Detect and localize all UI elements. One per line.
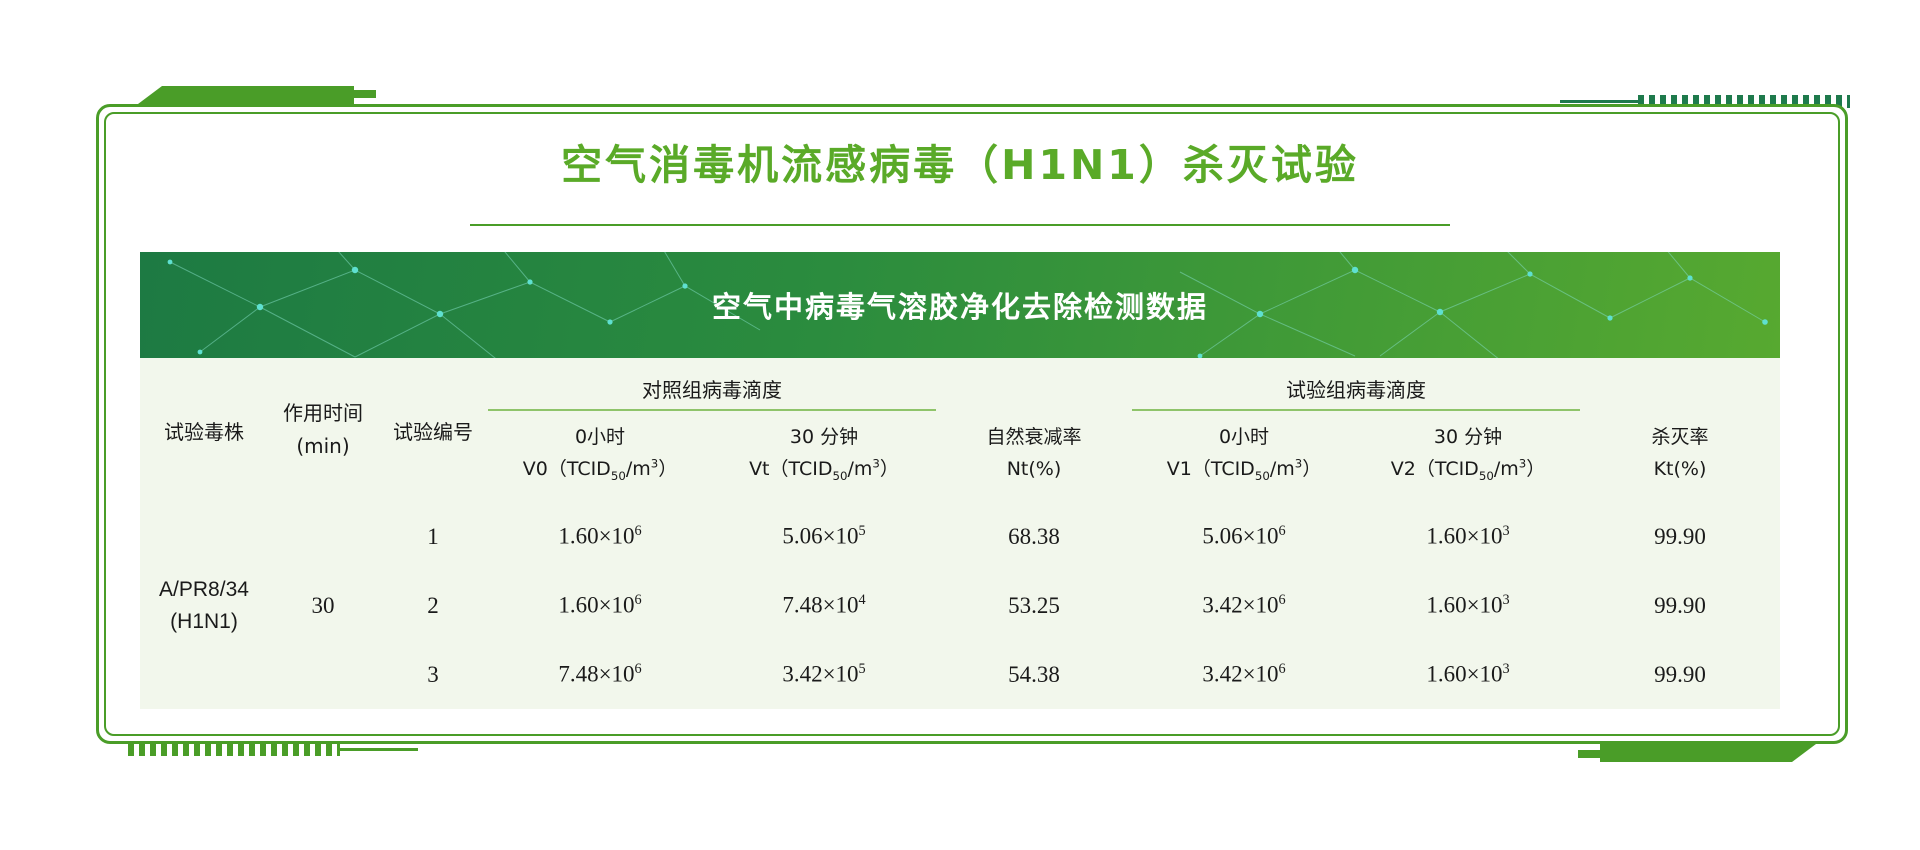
header-test-v1: 0小时 V1（TCID50/m3） bbox=[1132, 410, 1356, 502]
header-control-vt-line1: 30 分钟 bbox=[716, 421, 932, 453]
header-spacer-nt bbox=[936, 358, 1132, 410]
header-duration-line1: 作用时间 bbox=[269, 397, 377, 430]
cell-control-v0: 1.60×106 bbox=[488, 502, 712, 571]
header-control-v0-line2: V0（TCID50/m3） bbox=[492, 453, 708, 486]
cell-strain-line1: A/PR8/34 bbox=[141, 574, 267, 606]
corner-accent-bottom-right-bar bbox=[1578, 750, 1602, 758]
cell-control-vt: 5.06×105 bbox=[712, 502, 936, 571]
cell-test-v1: 3.42×106 bbox=[1132, 571, 1356, 640]
table-header-group-row: 试验毒株 作用时间 (min) 试验编号 对照组病毒滴度 试验组病毒滴度 bbox=[140, 358, 1780, 410]
cell-test-v1: 3.42×106 bbox=[1132, 640, 1356, 709]
results-table: 试验毒株 作用时间 (min) 试验编号 对照组病毒滴度 试验组病毒滴度 0小时… bbox=[140, 358, 1780, 709]
header-natural-decay-line2: Nt(%) bbox=[940, 453, 1128, 485]
cell-natural-decay: 54.38 bbox=[936, 640, 1132, 709]
header-group-test: 试验组病毒滴度 bbox=[1132, 358, 1580, 410]
cell-kill-rate: 99.90 bbox=[1580, 571, 1780, 640]
header-test-no: 试验编号 bbox=[378, 358, 488, 502]
cell-natural-decay: 68.38 bbox=[936, 502, 1132, 571]
cell-control-v0: 1.60×106 bbox=[488, 571, 712, 640]
table-row: 2 1.60×106 7.48×104 53.25 3.42×106 1.60×… bbox=[140, 571, 1780, 640]
cell-test-v1: 5.06×106 bbox=[1132, 502, 1356, 571]
header-control-vt: 30 分钟 Vt（TCID50/m3） bbox=[712, 410, 936, 502]
header-natural-decay-line1: 自然衰减率 bbox=[940, 421, 1128, 453]
header-duration: 作用时间 (min) bbox=[268, 358, 378, 502]
table-row: A/PR8/34 (H1N1) 30 1 1.60×106 5.06×105 6… bbox=[140, 502, 1780, 571]
cell-control-vt: 7.48×104 bbox=[712, 571, 936, 640]
cell-kill-rate: 99.90 bbox=[1580, 640, 1780, 709]
cell-duration: 30 bbox=[268, 502, 378, 709]
header-test-v1-line2: V1（TCID50/m3） bbox=[1136, 453, 1352, 486]
header-control-vt-line2: Vt（TCID50/m3） bbox=[716, 453, 932, 486]
header-natural-decay: 自然衰减率 Nt(%) bbox=[936, 410, 1132, 502]
poster-stage: 空气消毒机流感病毒（H1N1）杀灭试验 空气中病毒气溶胶净化去除检测数据 bbox=[0, 0, 1920, 850]
cell-control-v0: 7.48×106 bbox=[488, 640, 712, 709]
header-group-control: 对照组病毒滴度 bbox=[488, 358, 936, 410]
cell-test-no: 1 bbox=[378, 502, 488, 571]
cell-strain-line2: (H1N1) bbox=[141, 606, 267, 638]
header-test-v2: 30 分钟 V2（TCID50/m3） bbox=[1356, 410, 1580, 502]
table-row: 3 7.48×106 3.42×105 54.38 3.42×106 1.60×… bbox=[140, 640, 1780, 709]
banner-title: 空气中病毒气溶胶净化去除检测数据 bbox=[140, 252, 1780, 358]
header-kill-rate-line1: 杀灭率 bbox=[1584, 421, 1776, 453]
cell-test-v2: 1.60×103 bbox=[1356, 640, 1580, 709]
title-underline-rule bbox=[470, 224, 1450, 226]
cell-test-v2: 1.60×103 bbox=[1356, 502, 1580, 571]
header-test-v1-line1: 0小时 bbox=[1136, 421, 1352, 453]
header-test-v2-line1: 30 分钟 bbox=[1360, 421, 1576, 453]
header-test-v2-line2: V2（TCID50/m3） bbox=[1360, 453, 1576, 486]
cell-kill-rate: 99.90 bbox=[1580, 502, 1780, 571]
cell-test-no: 3 bbox=[378, 640, 488, 709]
header-strain: 试验毒株 bbox=[140, 358, 268, 502]
header-control-v0-line1: 0小时 bbox=[492, 421, 708, 453]
decor-comb-bottom-left bbox=[128, 743, 340, 756]
cell-strain: A/PR8/34 (H1N1) bbox=[140, 502, 268, 709]
header-spacer-kt bbox=[1580, 358, 1780, 410]
header-kill-rate: 杀灭率 Kt(%) bbox=[1580, 410, 1780, 502]
header-control-v0: 0小时 V0（TCID50/m3） bbox=[488, 410, 712, 502]
cell-test-no: 2 bbox=[378, 571, 488, 640]
cell-control-vt: 3.42×105 bbox=[712, 640, 936, 709]
header-kill-rate-line2: Kt(%) bbox=[1584, 453, 1776, 485]
corner-accent-top-left-bar bbox=[352, 90, 376, 98]
cell-test-v2: 1.60×103 bbox=[1356, 571, 1580, 640]
data-table-container: 试验毒株 作用时间 (min) 试验编号 对照组病毒滴度 试验组病毒滴度 0小时… bbox=[140, 358, 1780, 709]
decor-line-top-right bbox=[1560, 100, 1638, 103]
decor-line-bottom-left bbox=[340, 748, 418, 751]
header-duration-line2: (min) bbox=[269, 430, 377, 463]
banner: 空气中病毒气溶胶净化去除检测数据 bbox=[140, 252, 1780, 358]
table-body: A/PR8/34 (H1N1) 30 1 1.60×106 5.06×105 6… bbox=[140, 502, 1780, 709]
cell-natural-decay: 53.25 bbox=[936, 571, 1132, 640]
page-title: 空气消毒机流感病毒（H1N1）杀灭试验 bbox=[0, 131, 1920, 191]
